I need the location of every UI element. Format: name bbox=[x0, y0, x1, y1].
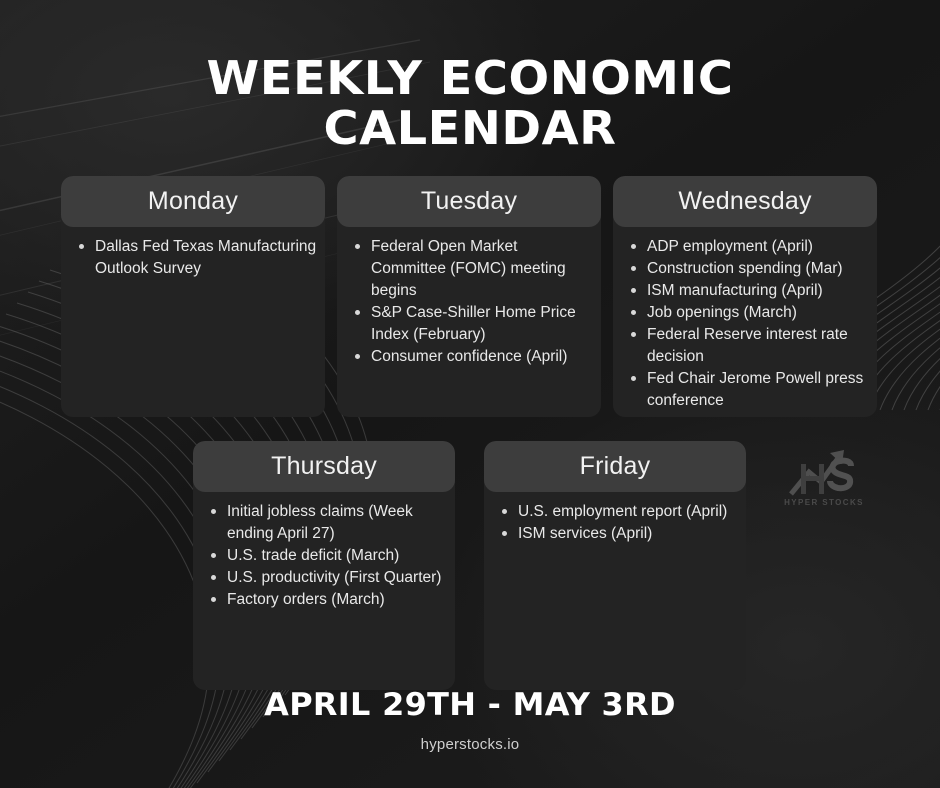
page-title: WEEKLY ECONOMIC CALENDAR bbox=[0, 0, 940, 151]
day-card-body-tuesday: Federal Open Market Committee (FOMC) mee… bbox=[337, 227, 601, 417]
day-card-wednesday[interactable]: Wednesday ADP employment (April) Constru… bbox=[613, 176, 877, 417]
day-card-header-wednesday: Wednesday bbox=[613, 176, 877, 227]
list-item: ISM services (April) bbox=[498, 523, 740, 545]
event-list-tuesday: Federal Open Market Committee (FOMC) mee… bbox=[351, 236, 595, 368]
footer: APRIL 29TH - MAY 3RD hyperstocks.io bbox=[0, 688, 940, 753]
day-card-body-thursday: Initial jobless claims (Week ending Apri… bbox=[193, 492, 455, 690]
list-item: Dallas Fed Texas Manufacturing Outlook S… bbox=[75, 236, 319, 280]
day-card-header-tuesday: Tuesday bbox=[337, 176, 601, 227]
day-label-tuesday: Tuesday bbox=[421, 187, 517, 216]
day-card-tuesday[interactable]: Tuesday Federal Open Market Committee (F… bbox=[337, 176, 601, 417]
website-url: hyperstocks.io bbox=[0, 736, 940, 753]
day-label-thursday: Thursday bbox=[271, 452, 377, 481]
list-item: U.S. productivity (First Quarter) bbox=[207, 567, 449, 589]
page-title-line-2: CALENDAR bbox=[0, 105, 940, 151]
list-item: Fed Chair Jerome Powell press conference bbox=[627, 368, 871, 412]
day-card-body-monday: Dallas Fed Texas Manufacturing Outlook S… bbox=[61, 227, 325, 417]
list-item: U.S. employment report (April) bbox=[498, 501, 740, 523]
hyper-stocks-wordmark: HYPER STOCKS bbox=[783, 498, 865, 507]
list-item: Consumer confidence (April) bbox=[351, 346, 595, 368]
day-card-header-monday: Monday bbox=[61, 176, 325, 227]
list-item: Factory orders (March) bbox=[207, 589, 449, 611]
day-card-thursday[interactable]: Thursday Initial jobless claims (Week en… bbox=[193, 441, 455, 690]
day-card-row-1: Monday Dallas Fed Texas Manufacturing Ou… bbox=[61, 176, 877, 417]
day-label-friday: Friday bbox=[580, 452, 651, 481]
hyper-stocks-monogram-icon bbox=[783, 448, 865, 498]
calendar-page: WEEKLY ECONOMIC CALENDAR Monday Dallas F… bbox=[0, 0, 940, 788]
hyper-stocks-logo: HYPER STOCKS bbox=[783, 448, 865, 514]
list-item: ISM manufacturing (April) bbox=[627, 280, 871, 302]
list-item: Federal Open Market Committee (FOMC) mee… bbox=[351, 236, 595, 302]
day-card-header-friday: Friday bbox=[484, 441, 746, 492]
date-range: APRIL 29TH - MAY 3RD bbox=[0, 688, 940, 722]
day-card-monday[interactable]: Monday Dallas Fed Texas Manufacturing Ou… bbox=[61, 176, 325, 417]
day-card-body-wednesday: ADP employment (April) Construction spen… bbox=[613, 227, 877, 417]
day-card-header-thursday: Thursday bbox=[193, 441, 455, 492]
event-list-monday: Dallas Fed Texas Manufacturing Outlook S… bbox=[75, 236, 319, 280]
list-item: U.S. trade deficit (March) bbox=[207, 545, 449, 567]
list-item: Construction spending (Mar) bbox=[627, 258, 871, 280]
list-item: Initial jobless claims (Week ending Apri… bbox=[207, 501, 449, 545]
page-title-line-1: WEEKLY ECONOMIC bbox=[0, 55, 940, 101]
day-label-monday: Monday bbox=[148, 187, 238, 216]
day-card-row-2: Thursday Initial jobless claims (Week en… bbox=[193, 441, 746, 690]
day-label-wednesday: Wednesday bbox=[678, 187, 811, 216]
event-list-thursday: Initial jobless claims (Week ending Apri… bbox=[207, 501, 449, 611]
list-item: S&P Case-Shiller Home Price Index (Febru… bbox=[351, 302, 595, 346]
list-item: ADP employment (April) bbox=[627, 236, 871, 258]
event-list-friday: U.S. employment report (April) ISM servi… bbox=[498, 501, 740, 545]
event-list-wednesday: ADP employment (April) Construction spen… bbox=[627, 236, 871, 412]
day-card-body-friday: U.S. employment report (April) ISM servi… bbox=[484, 492, 746, 690]
list-item: Federal Reserve interest rate decision bbox=[627, 324, 871, 368]
list-item: Job openings (March) bbox=[627, 302, 871, 324]
day-card-friday[interactable]: Friday U.S. employment report (April) IS… bbox=[484, 441, 746, 690]
